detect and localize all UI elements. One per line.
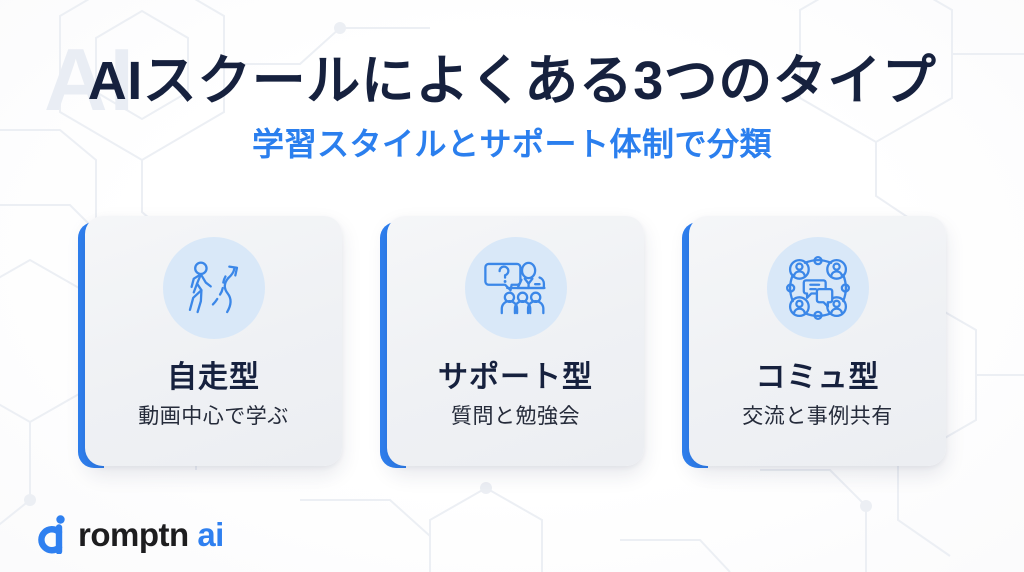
hexagon-outline — [430, 488, 542, 572]
card-supported[interactable]: サポート型 質問と勉強会 — [380, 216, 644, 474]
icon-badge — [465, 237, 567, 339]
logo-suffix: ai — [197, 516, 224, 553]
slide-canvas: AI AIスクールによくある3つのタイプ 学習スタイルとサポート体制で分類 — [0, 0, 1024, 572]
icon-badge — [767, 237, 869, 339]
card-description: 動画中心で学ぶ — [138, 394, 289, 428]
promptn-a-mark-icon — [33, 514, 69, 554]
circuit-trace — [300, 500, 430, 536]
circuit-trace — [620, 540, 730, 572]
logo-wordmark: romptn ai — [78, 518, 224, 551]
card-title: 自走型 — [167, 339, 260, 394]
walking-person-winding-arrow-icon — [179, 253, 249, 323]
page-title: AIスクールによくある3つのタイプ — [0, 0, 1024, 112]
circuit-node — [480, 482, 492, 494]
card-description: 交流と事例共有 — [742, 394, 893, 428]
circuit-node — [24, 494, 36, 506]
circuit-trace — [898, 465, 950, 556]
card-title: サポート型 — [438, 339, 593, 394]
card-community[interactable]: コミュ型 交流と事例共有 — [682, 216, 946, 474]
page-subtitle: 学習スタイルとサポート体制で分類 — [0, 112, 1024, 163]
people-network-chat-icon — [783, 253, 853, 323]
card-self-paced[interactable]: 自走型 動画中心で学ぶ — [78, 216, 342, 474]
card-description: 質問と勉強会 — [451, 394, 580, 428]
brand-logo[interactable]: romptn ai — [33, 514, 224, 554]
card-title: コミュ型 — [756, 339, 880, 394]
logo-name: romptn — [78, 516, 189, 553]
card-body[interactable]: サポート型 質問と勉強会 — [387, 216, 644, 466]
circuit-node — [860, 500, 872, 512]
card-row: 自走型 動画中心で学ぶ — [78, 216, 946, 474]
instructor-question-audience-icon — [481, 253, 551, 323]
card-body[interactable]: コミュ型 交流と事例共有 — [689, 216, 946, 466]
card-body[interactable]: 自走型 動画中心で学ぶ — [85, 216, 342, 466]
header: AIスクールによくある3つのタイプ 学習スタイルとサポート体制で分類 — [0, 0, 1024, 163]
circuit-trace — [760, 470, 866, 572]
circuit-trace — [0, 422, 30, 540]
icon-badge — [163, 237, 265, 339]
